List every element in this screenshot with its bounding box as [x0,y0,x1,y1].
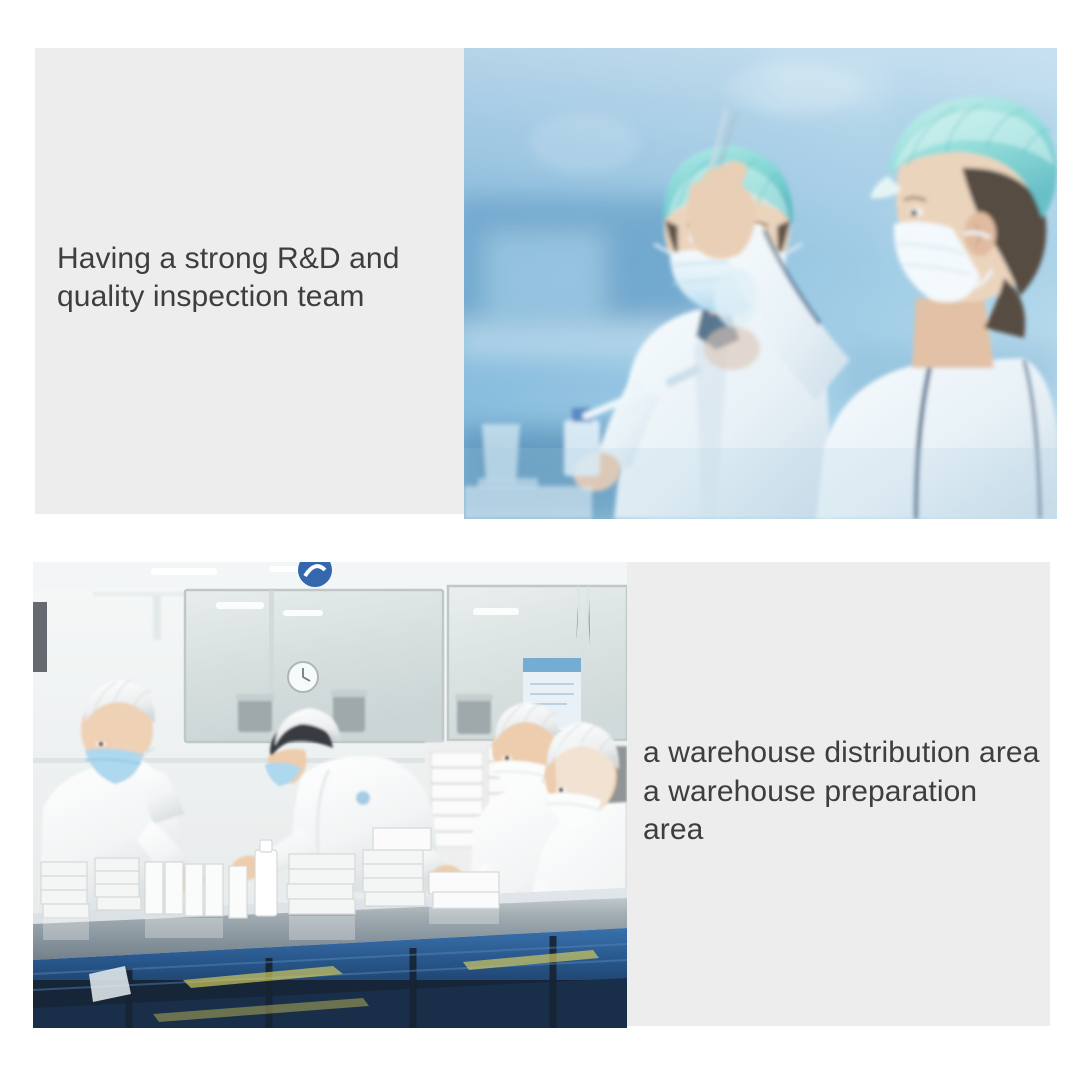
lab-quality-inspection-photo [464,48,1057,519]
top-caption-panel: Having a strong R&D and quality inspecti… [35,48,464,514]
bottom-section: a warehouse distribution area a warehous… [33,560,1050,1028]
bottom-caption-text: a warehouse distribution area a warehous… [627,734,1050,849]
warehouse-packing-photo [33,562,627,1028]
top-section: Having a strong R&D and quality inspecti… [35,48,1057,519]
top-caption-text: Having a strong R&D and quality inspecti… [35,240,409,317]
bottom-caption-panel: a warehouse distribution area a warehous… [627,562,1050,1026]
